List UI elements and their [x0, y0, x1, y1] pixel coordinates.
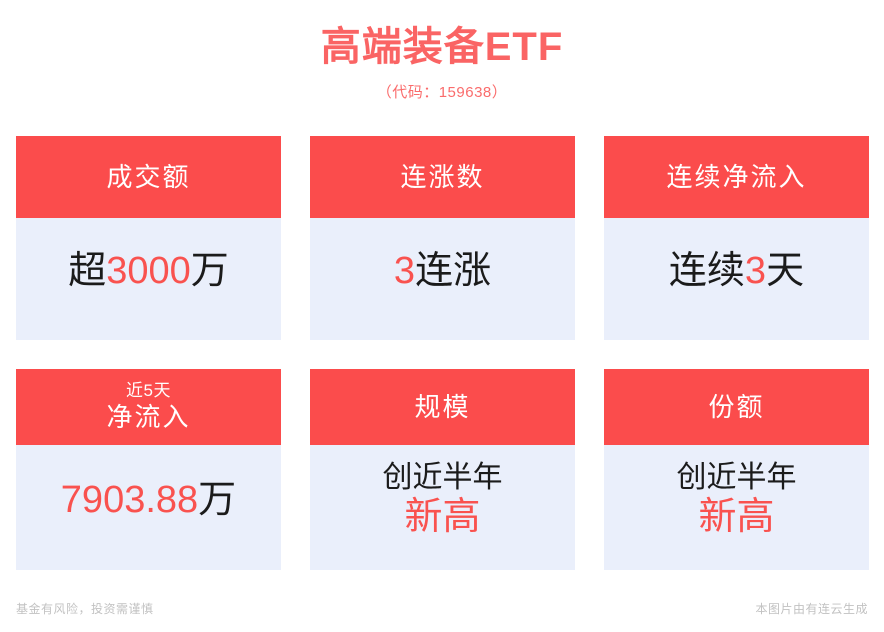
metric-card: 连涨数3连涨 [310, 136, 575, 340]
metric-value-text: 创近半年 [677, 461, 797, 494]
fund-code-label: （代码：159638） [0, 82, 884, 104]
metric-card-body: 创近半年新高 [310, 445, 575, 570]
metric-card-body: 连续3天 [604, 218, 869, 340]
metric-value-text: 万 [198, 479, 236, 521]
metric-value-line: 连续3天 [669, 250, 804, 294]
metric-card-subtitle: 近5天 [126, 381, 171, 401]
metric-card: 连续净流入连续3天 [604, 136, 869, 340]
page-title: 高端装备ETF [0, 22, 884, 72]
attribution-note: 本图片由有连云生成 [755, 600, 868, 618]
metric-value-text: 连续 [669, 250, 745, 292]
metric-value-line: 创近半年 [677, 461, 797, 496]
metric-card-title: 连涨数 [400, 161, 484, 193]
page-footer: 基金有风险，投资需谨慎 本图片由有连云生成 [0, 586, 884, 632]
risk-disclaimer: 基金有风险，投资需谨慎 [16, 600, 154, 618]
metric-card-header: 份额 [604, 369, 869, 445]
metric-card-title: 净流入 [106, 401, 190, 433]
infographic-page: 高端装备ETF （代码：159638） 成交额超3000万连涨数3连涨连续净流入… [0, 0, 884, 632]
metric-value-highlight: 新高 [404, 496, 480, 538]
metric-card-header: 近5天净流入 [16, 369, 281, 445]
metric-card: 成交额超3000万 [16, 136, 281, 340]
metric-value-text: 连涨 [415, 250, 491, 292]
metric-value-highlight: 3000 [106, 250, 191, 292]
metric-value-highlight: 新高 [698, 496, 774, 538]
metric-card: 规模创近半年新高 [310, 369, 575, 570]
metric-card-header: 连涨数 [310, 136, 575, 218]
metric-value-line: 新高 [698, 496, 774, 540]
metric-card-body: 3连涨 [310, 218, 575, 340]
metric-card-body: 超3000万 [16, 218, 281, 340]
metric-card-title: 连续净流入 [666, 161, 806, 193]
metric-card-grid: 成交额超3000万连涨数3连涨连续净流入连续3天近5天净流入7903.88万规模… [16, 136, 869, 570]
metric-value-highlight: 3 [745, 250, 766, 292]
page-header: 高端装备ETF （代码：159638） [0, 0, 884, 104]
metric-value-line: 新高 [404, 496, 480, 540]
metric-card: 近5天净流入7903.88万 [16, 369, 281, 570]
metric-card-header: 成交额 [16, 136, 281, 218]
metric-value-text: 天 [766, 250, 804, 292]
metric-card-body: 7903.88万 [16, 445, 281, 570]
metric-value-text: 万 [191, 250, 229, 292]
metric-card: 份额创近半年新高 [604, 369, 869, 570]
metric-value-line: 创近半年 [383, 461, 503, 496]
metric-card-header: 规模 [310, 369, 575, 445]
metric-card-body: 创近半年新高 [604, 445, 869, 570]
metric-card-title: 成交额 [106, 161, 190, 193]
metric-value-text: 创近半年 [383, 461, 503, 494]
metric-card-title: 份额 [708, 391, 764, 423]
metric-value-line: 超3000万 [68, 250, 229, 294]
metric-card-title: 规模 [414, 391, 470, 423]
metric-value-text: 超 [68, 250, 106, 292]
metric-value-line: 3连涨 [394, 250, 491, 294]
metric-value-line: 7903.88万 [61, 479, 236, 523]
metric-value-highlight: 3 [394, 250, 415, 292]
metric-card-header: 连续净流入 [604, 136, 869, 218]
metric-value-highlight: 7903.88 [61, 479, 198, 521]
